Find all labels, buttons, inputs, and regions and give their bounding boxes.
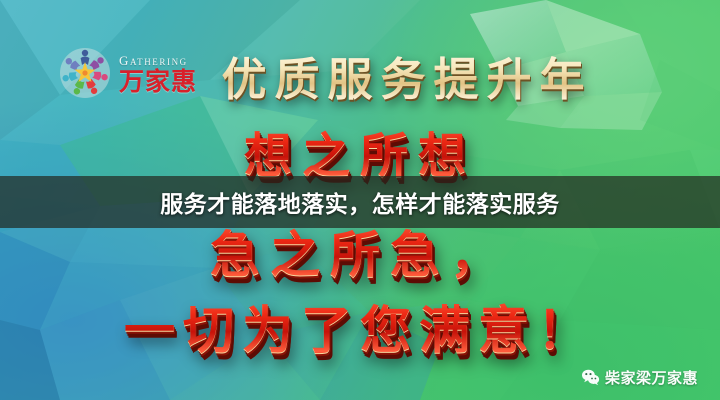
headline-text: 优质服务提升年: [222, 43, 593, 108]
wechat-icon: [581, 368, 600, 387]
logo-english-text: Gathering: [119, 54, 197, 67]
slogan-line-1: 想之所想: [180, 120, 540, 182]
circle-of-people-icon: [58, 46, 112, 100]
poster-image: Gathering 万家惠 优质服务提升年 想之所想 急之所急， 一切为了您满意…: [0, 0, 720, 400]
slogan-text-3: 一切为了您满意！: [124, 289, 596, 363]
caption-text: 服务才能落地落实，怎样才能落实服务: [160, 185, 560, 219]
headline: 优质服务提升年: [222, 44, 592, 106]
watermark-text: 柴家梁万家惠: [605, 367, 698, 388]
logo-wordmark: Gathering 万家惠: [119, 53, 197, 94]
caption-band: 服务才能落地落实，怎样才能落实服务: [0, 176, 720, 228]
brand-logo: Gathering 万家惠: [58, 42, 206, 104]
logo-chinese-text: 万家惠: [119, 69, 197, 94]
slogan-line-3: 一切为了您满意！: [70, 292, 650, 360]
watermark: 柴家梁万家惠: [581, 367, 698, 388]
